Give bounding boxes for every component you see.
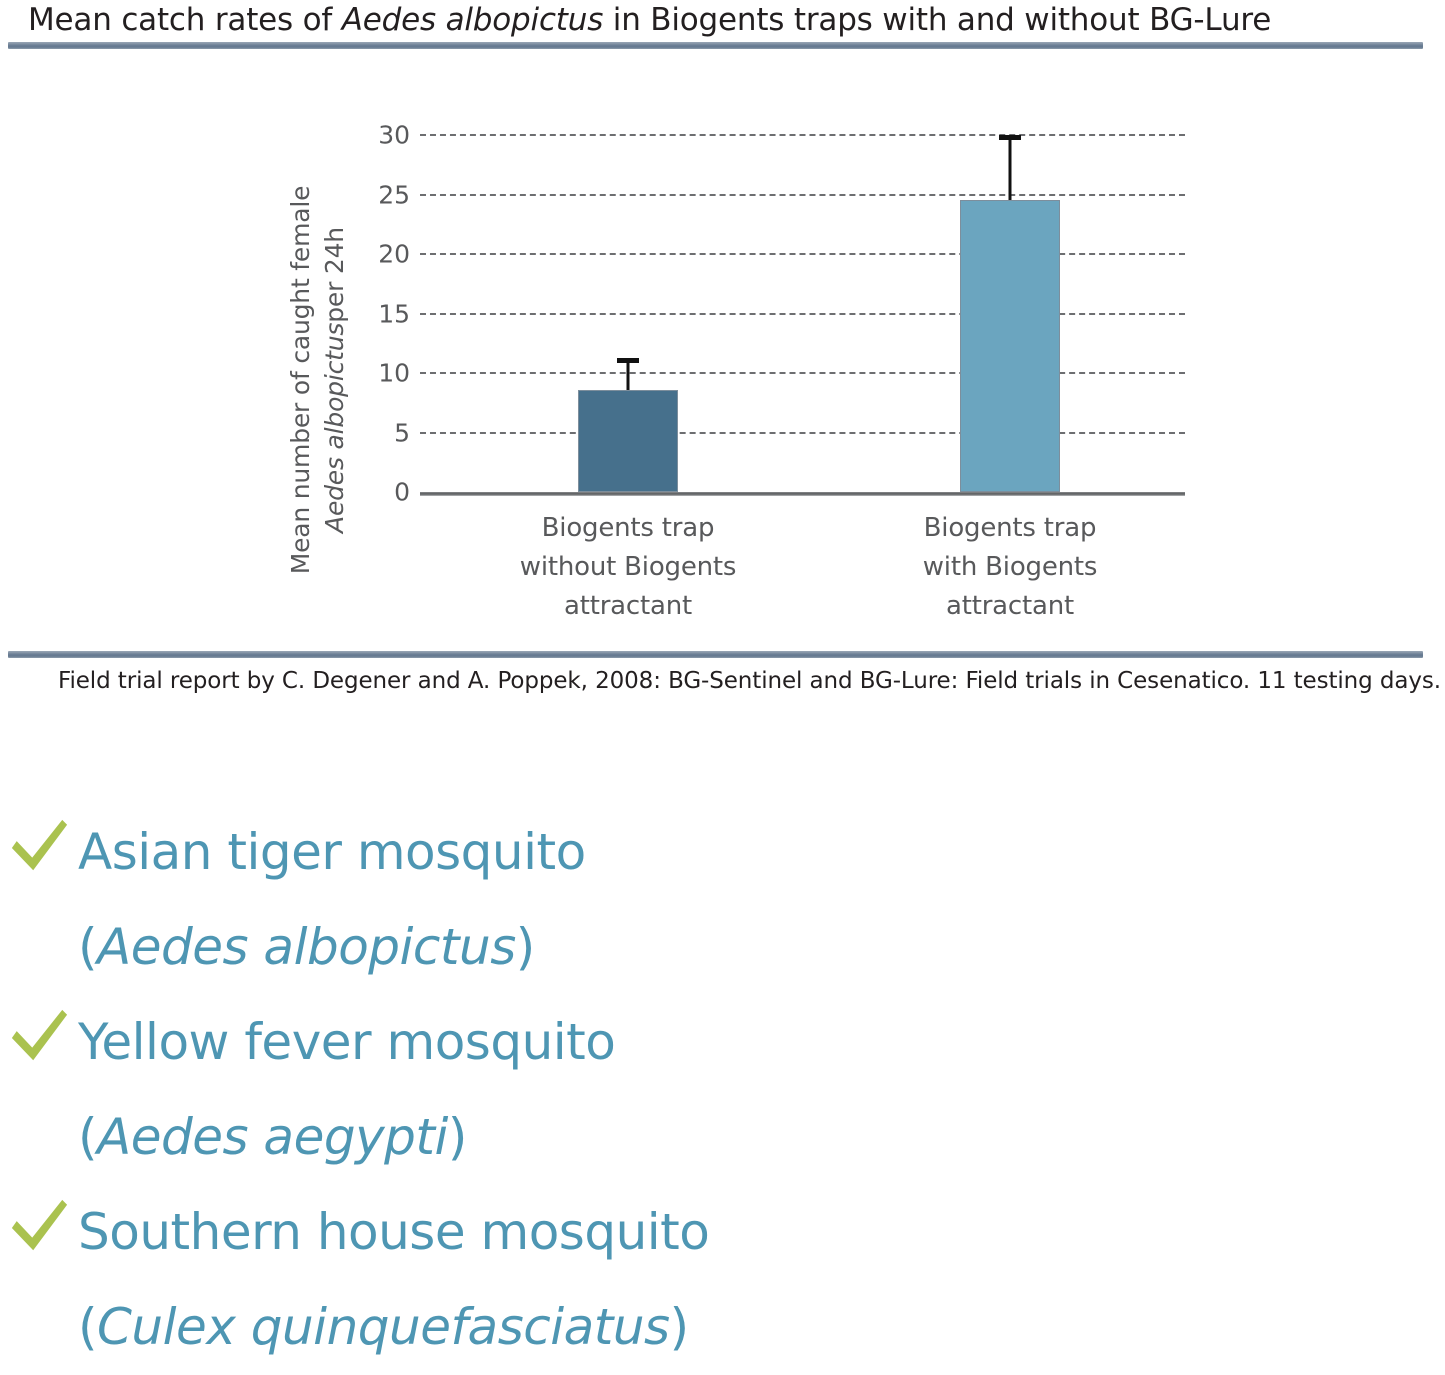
chart-caption: Field trial report by C. Degener and A. …: [58, 668, 1441, 694]
y-tick-label: 15: [350, 299, 410, 328]
gridline: [420, 313, 1185, 315]
x-tick-label-line: with Biogents: [840, 548, 1180, 587]
species-common-name: Southern house mosquito: [78, 1185, 709, 1280]
species-common-name: Yellow fever mosquito: [78, 995, 615, 1090]
x-tick-label-line: attractant: [840, 587, 1180, 626]
check-icon: [8, 815, 70, 877]
species-common-name: Asian tiger mosquito: [78, 805, 586, 900]
x-tick-label: Biogents trapwith Biogentsattractant: [840, 509, 1180, 626]
species-label: Southern house mosquito(Culex quinquefas…: [78, 1185, 709, 1375]
x-tick-label: Biogents trapwithout Biogentsattractant: [458, 509, 798, 626]
y-tick-label: 5: [350, 418, 410, 447]
x-axis-line: [420, 492, 1185, 496]
bar: [578, 390, 678, 492]
title-species-name: Aedes albopictus: [342, 2, 603, 38]
list-item: Southern house mosquito(Culex quinquefas…: [0, 1185, 1200, 1375]
y-axis-tick-labels: 051015202530: [330, 50, 410, 650]
gridline: [420, 372, 1185, 374]
gridline: [420, 194, 1185, 196]
x-tick-label-line: Biogents trap: [458, 509, 798, 548]
check-icon: [8, 1005, 70, 1067]
x-tick-label-line: without Biogents: [458, 548, 798, 587]
gridline: [420, 134, 1185, 136]
bar: [960, 200, 1060, 492]
species-scientific-name: (Aedes aegypti): [78, 1090, 615, 1185]
page-title: Mean catch rates of Aedes albopictus in …: [28, 2, 1271, 38]
error-bar-cap: [617, 358, 639, 363]
divider-top: [8, 42, 1423, 49]
title-text-before: Mean catch rates of: [28, 2, 342, 38]
species-label: Asian tiger mosquito(Aedes albopictus): [78, 805, 586, 995]
gridline: [420, 432, 1185, 434]
y-tick-label: 25: [350, 180, 410, 209]
divider-bottom: [8, 651, 1423, 658]
x-tick-label-line: attractant: [458, 587, 798, 626]
title-text-after: in Biogents traps with and without BG-Lu…: [603, 2, 1271, 38]
y-tick-label: 0: [350, 478, 410, 507]
check-icon: [8, 1195, 70, 1257]
list-item: Asian tiger mosquito(Aedes albopictus): [0, 805, 1200, 995]
y-tick-label: 30: [350, 121, 410, 150]
species-scientific-name: (Culex quinquefasciatus): [78, 1280, 709, 1375]
error-bar-stem: [1009, 135, 1012, 200]
error-bar-cap: [999, 135, 1021, 140]
gridline: [420, 253, 1185, 255]
species-label: Yellow fever mosquito(Aedes aegypti): [78, 995, 615, 1185]
bar-chart: Mean number of caught female Aedes albop…: [0, 50, 1445, 650]
list-item: Yellow fever mosquito(Aedes aegypti): [0, 995, 1200, 1185]
y-tick-label: 20: [350, 240, 410, 269]
y-axis-title: Mean number of caught female Aedes albop…: [258, 145, 320, 615]
species-scientific-name: (Aedes albopictus): [78, 900, 586, 995]
x-tick-label-line: Biogents trap: [840, 509, 1180, 548]
y-tick-label: 10: [350, 359, 410, 388]
